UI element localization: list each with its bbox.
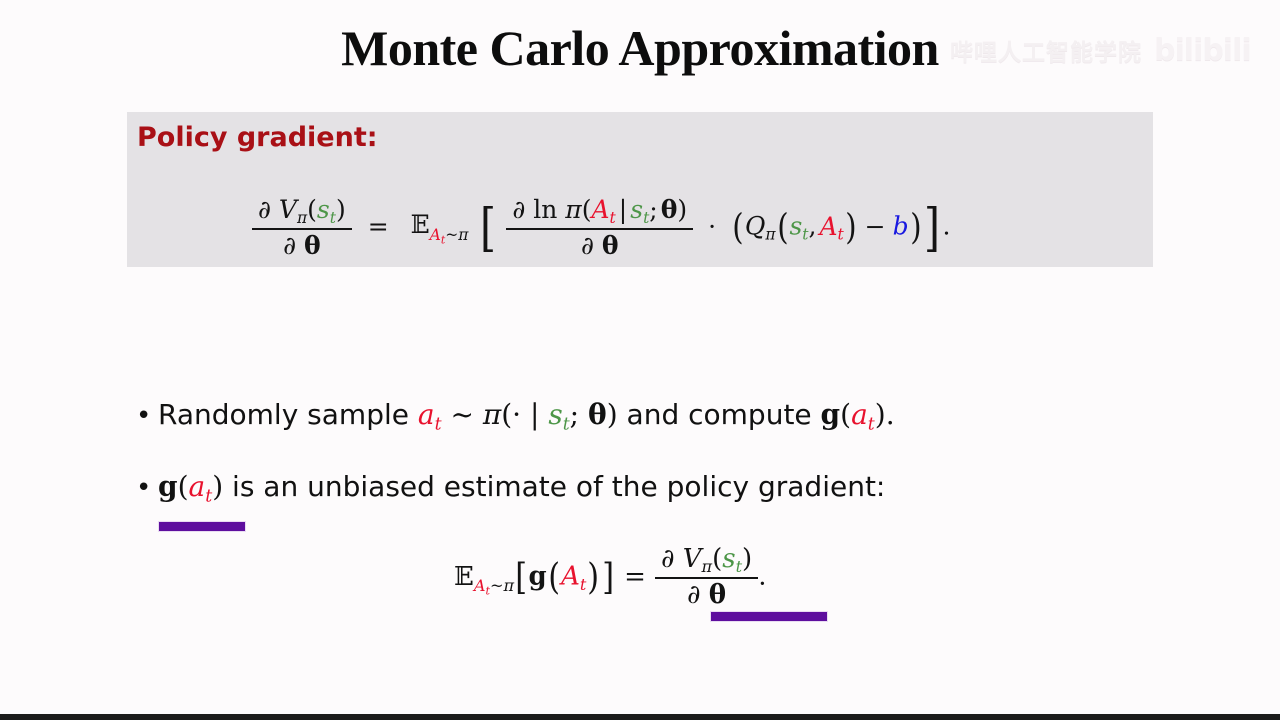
- advantage-open-paren: (: [732, 207, 743, 248]
- action-A: A: [816, 212, 837, 241]
- log-policy-denominator: ∂ θ: [506, 230, 693, 260]
- value-function-V: V: [683, 544, 702, 574]
- log-policy-numerator: ∂ ln π(At|st;θ): [506, 196, 693, 230]
- equals-sign: =: [615, 562, 655, 592]
- pi-subscript: π: [701, 557, 712, 576]
- bullet-1-text-mid: and compute: [618, 398, 821, 431]
- partial-symbol: ∂: [687, 580, 700, 610]
- sampled-action-a: a: [418, 398, 435, 431]
- partial-symbol: ∂: [258, 195, 271, 224]
- close-paren: ): [212, 470, 223, 503]
- state-s: s: [317, 195, 330, 224]
- open-paren: (: [548, 555, 560, 598]
- bullet-marker: •: [136, 401, 158, 431]
- action-value-Q: Q: [745, 212, 766, 241]
- action-subscript-t: t: [580, 575, 586, 594]
- multiplication-dot: ·: [701, 212, 723, 241]
- partial-symbol: ∂: [512, 195, 525, 224]
- sampled-action-a: a: [189, 470, 206, 503]
- page-title: Monte Carlo Approximation: [0, 16, 1280, 80]
- state-s: s: [630, 195, 643, 224]
- expectation-subscript: At~π: [430, 226, 469, 244]
- value-function-V: V: [279, 195, 297, 224]
- bullet-item-unbiased: •g(at) is an unbiased estimate of the po…: [136, 470, 885, 507]
- action-subscript-t: t: [868, 415, 875, 435]
- sampled-action-a: a: [851, 398, 868, 431]
- action-subscript-t: t: [610, 209, 616, 227]
- close-paren: ): [677, 195, 687, 224]
- baseline-b: b: [893, 212, 909, 241]
- right-bracket: ]: [924, 198, 940, 258]
- close-paren: ): [588, 555, 600, 598]
- tilde-symbol: ~: [490, 576, 504, 595]
- partial-symbol: ∂: [283, 231, 296, 260]
- gradient-g: g: [821, 398, 841, 431]
- advantage-close-paren: ): [910, 207, 921, 248]
- pg-lhs-denominator: ∂ θ: [252, 230, 352, 260]
- conditional-bar: |: [521, 398, 548, 431]
- action-subscript-t: t: [838, 226, 844, 244]
- bullet-marker: •: [136, 473, 158, 503]
- fraction-denominator: ∂ θ: [655, 579, 758, 610]
- center-dot: ·: [512, 398, 521, 431]
- tilde-symbol: ~: [442, 398, 483, 431]
- bullet-1-text-start: Randomly sample: [158, 398, 418, 431]
- policy-pi: π: [565, 195, 581, 224]
- fraction-numerator: ∂ Vπ(st): [655, 545, 758, 579]
- action-A: A: [591, 195, 609, 224]
- policy-gradient-formula: ∂ Vπ(st) ∂ θ = 𝔼At~π [ ∂ ln π(At|st;θ) ∂…: [252, 196, 950, 260]
- partial-symbol: ∂: [581, 231, 594, 260]
- ln-operator: ln: [533, 195, 557, 224]
- open-paren: (: [777, 207, 788, 248]
- pg-lhs-numerator: ∂ Vπ(st): [252, 196, 352, 230]
- policy-pi: π: [458, 226, 468, 244]
- gradient-g: g: [529, 562, 547, 592]
- bottom-equation: 𝔼At~π[g(At)]=∂ Vπ(st)∂ θ.: [454, 545, 766, 610]
- expectation-operator: 𝔼At~π: [454, 562, 514, 592]
- action-A: A: [561, 562, 580, 592]
- state-s: s: [789, 212, 802, 241]
- expectation-E: 𝔼: [454, 562, 474, 592]
- semicolon: ;: [649, 195, 657, 224]
- state-s: s: [548, 398, 562, 431]
- right-bracket: ]: [602, 555, 614, 598]
- close-paren: ): [742, 544, 752, 574]
- bottom-bar: [0, 714, 1280, 720]
- value-gradient-fraction: ∂ Vπ(st)∂ θ: [655, 545, 758, 610]
- policy-pi: π: [504, 576, 515, 595]
- action-A: A: [430, 226, 441, 244]
- period: .: [758, 562, 766, 592]
- equals-sign: =: [360, 212, 397, 241]
- close-paren: ): [845, 207, 856, 248]
- pi-subscript: π: [297, 209, 307, 227]
- theta-symbol: θ: [658, 195, 678, 224]
- action-A: A: [474, 576, 486, 595]
- partial-symbol: ∂: [661, 544, 674, 574]
- minus-sign: −: [858, 212, 893, 241]
- policy-gradient-label: Policy gradient:: [137, 122, 378, 153]
- slide-canvas: Monte Carlo Approximation 哔哩人工智能学院 bilib…: [0, 0, 1280, 720]
- expectation-subscript: At~π: [474, 576, 514, 595]
- open-paren: (: [501, 398, 512, 431]
- close-paren: ): [875, 398, 886, 431]
- expectation-E: 𝔼: [411, 210, 430, 239]
- log-policy-fraction: ∂ ln π(At|st;θ) ∂ θ: [506, 196, 693, 260]
- open-paren: (: [307, 195, 317, 224]
- action-subscript-t: t: [435, 415, 442, 435]
- close-paren: ): [607, 398, 618, 431]
- close-paren: ): [336, 195, 346, 224]
- left-bracket: [: [515, 555, 527, 598]
- gradient-g: g: [158, 470, 178, 503]
- bullet-2-text: is an unbiased estimate of the policy gr…: [223, 470, 885, 503]
- open-paren: (: [840, 398, 851, 431]
- conditional-bar: |: [616, 195, 630, 224]
- state-s: s: [722, 544, 735, 574]
- theta-symbol: θ: [588, 398, 607, 431]
- left-bracket: [: [480, 198, 496, 258]
- bullet-item-sample: •Randomly sample at ~ π(· | st; θ) and c…: [136, 398, 895, 435]
- semicolon: ;: [570, 398, 588, 431]
- theta-symbol: θ: [602, 231, 619, 260]
- theta-symbol: θ: [709, 580, 726, 610]
- expectation-operator: 𝔼At~π: [411, 210, 469, 245]
- period: .: [886, 398, 895, 431]
- period: .: [942, 212, 950, 241]
- underline-value-gradient: [710, 611, 828, 622]
- underline-g-of-a: [158, 521, 246, 532]
- policy-pi: π: [483, 398, 501, 431]
- pi-subscript: π: [765, 226, 775, 244]
- open-paren: (: [712, 544, 722, 574]
- state-subscript-t: t: [563, 415, 570, 435]
- tilde-symbol: ~: [445, 226, 458, 244]
- open-paren: (: [178, 470, 189, 503]
- pg-lhs-fraction: ∂ Vπ(st) ∂ θ: [252, 196, 352, 260]
- theta-symbol: θ: [304, 231, 321, 260]
